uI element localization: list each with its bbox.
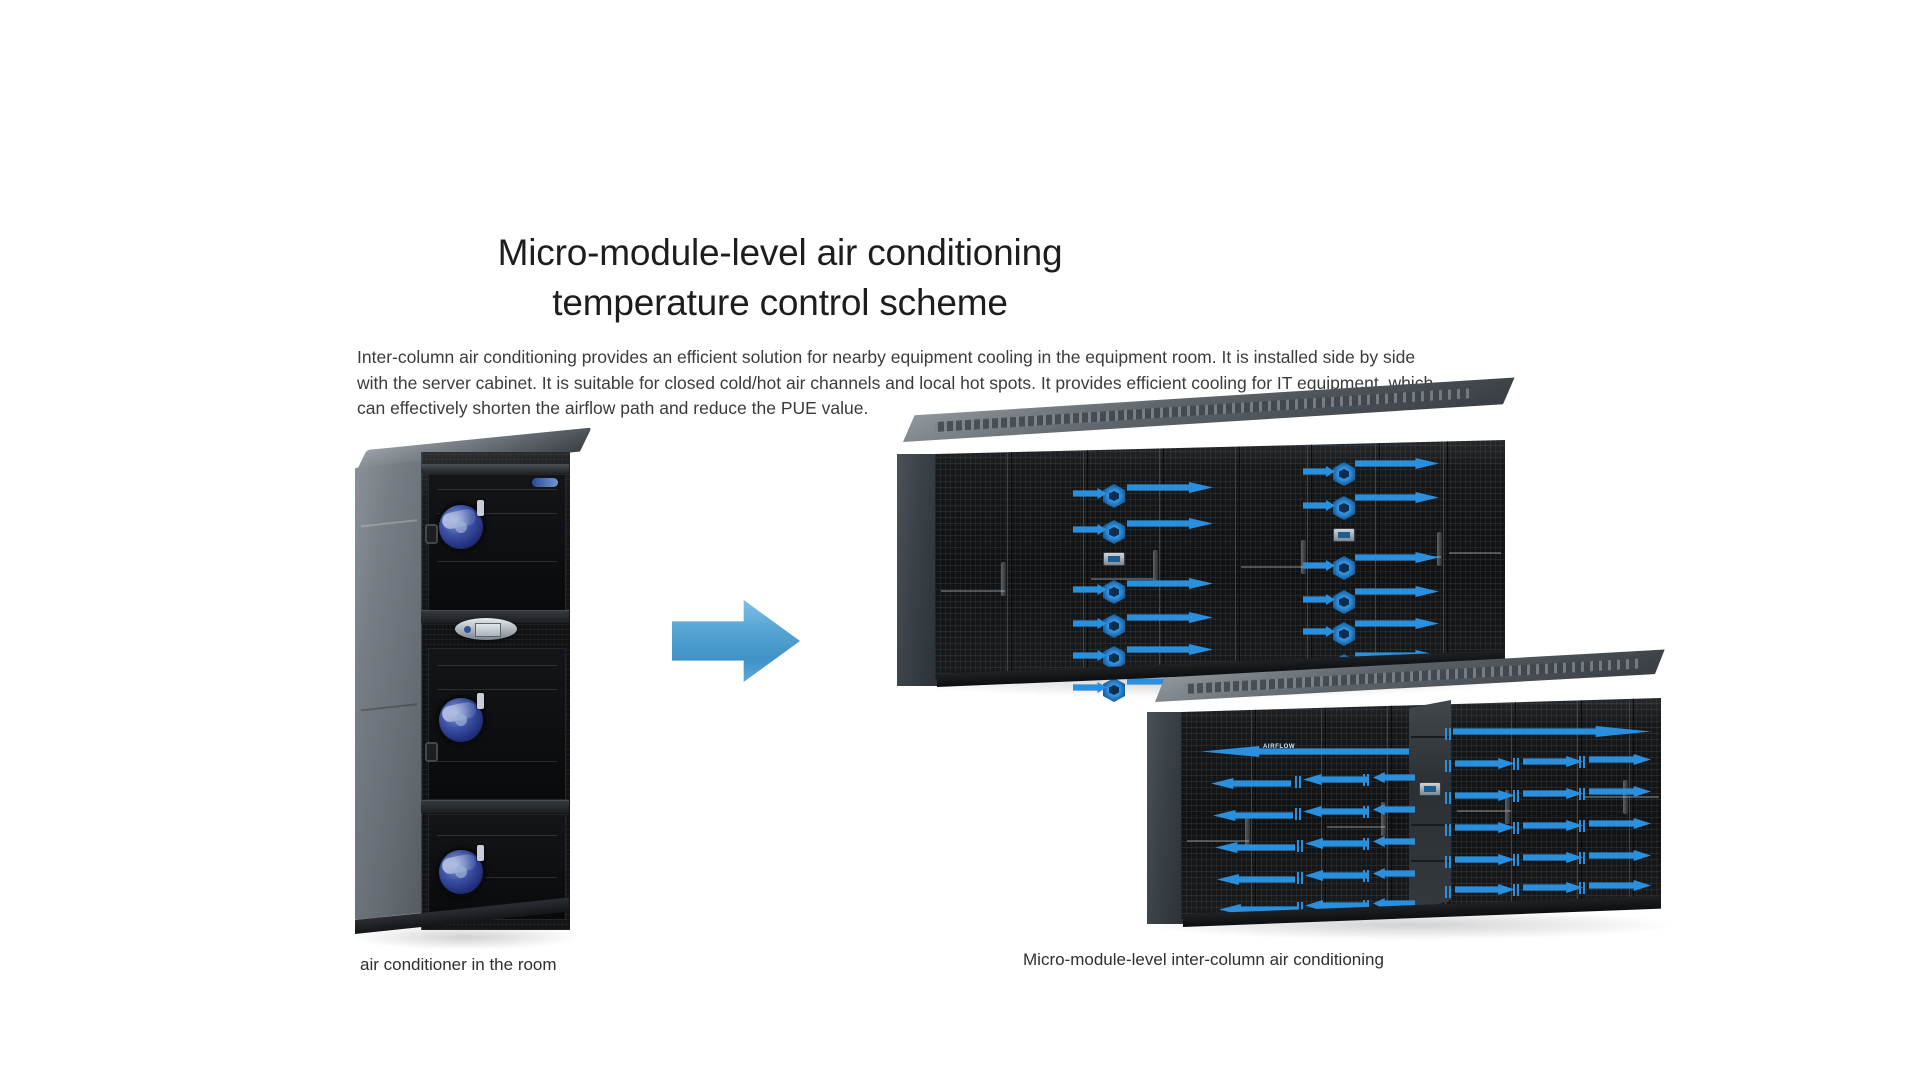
brand-logo	[532, 478, 558, 487]
vent-grille	[1513, 822, 1521, 834]
cabinet-side-panel	[355, 461, 423, 920]
fan-pipe-bottom	[477, 845, 484, 861]
rack-left-end-panel	[897, 454, 937, 686]
caption-left: air conditioner in the room	[360, 955, 557, 975]
page-title: Micro-module-level air conditioning temp…	[460, 228, 1100, 328]
vent-grille	[1297, 872, 1305, 884]
cabinet-divider	[1007, 440, 1012, 680]
rack-seam	[1327, 826, 1385, 828]
vent-grille	[1297, 840, 1305, 852]
door-handle-upper[interactable]	[425, 524, 438, 544]
cabinet-divider	[1307, 440, 1312, 680]
vent-grille	[1513, 790, 1521, 802]
rack-door-handle[interactable]	[1301, 540, 1306, 574]
transition-arrow	[672, 600, 800, 682]
control-display-panel[interactable]	[455, 618, 517, 640]
vent-grille	[1445, 728, 1453, 740]
vent-grille	[1445, 792, 1453, 804]
title-line-2: temperature control scheme	[460, 278, 1100, 328]
vent-grille	[1513, 854, 1521, 866]
rack-seam	[1449, 552, 1501, 554]
vent-grille	[1445, 856, 1453, 868]
rack-door-handle[interactable]	[1153, 550, 1158, 584]
rack-seam	[1187, 840, 1249, 842]
rack-seam	[1457, 810, 1511, 812]
vent-grille	[1363, 806, 1371, 818]
vent-grille	[1295, 808, 1303, 820]
rack-seam	[1585, 796, 1659, 798]
vent-grille	[1579, 820, 1587, 832]
vent-grille	[1363, 870, 1371, 882]
cabinet-rail-lower	[421, 800, 569, 813]
rack-left-end-panel	[1147, 712, 1183, 924]
rack-seam	[1091, 578, 1153, 580]
vent-grille	[1445, 886, 1453, 898]
vent-grille	[1445, 824, 1453, 836]
vent-grille	[1513, 758, 1521, 770]
cabinet-divider	[1159, 440, 1164, 680]
vent-grille	[1579, 882, 1587, 894]
cabinet-top-edge	[421, 464, 569, 473]
cabinet-divider	[1443, 440, 1448, 680]
vent-grille	[1579, 756, 1587, 768]
vent-grille	[1363, 838, 1371, 850]
rack-seam	[1241, 566, 1303, 568]
ac-control-panel[interactable]	[1103, 552, 1125, 566]
fan-pipe-top	[477, 500, 484, 516]
right-arrow-icon	[672, 600, 800, 682]
vent-grille	[1579, 788, 1587, 800]
vent-grille	[1579, 852, 1587, 864]
vent-grille	[1295, 776, 1303, 788]
cabinet-divider	[1083, 440, 1088, 680]
slide-canvas: Micro-module-level air conditioning temp…	[0, 0, 1920, 1080]
vent-grille	[1513, 884, 1521, 896]
vent-grille	[1445, 760, 1453, 772]
title-line-1: Micro-module-level air conditioning	[498, 232, 1063, 273]
ac-control-panel[interactable]	[1333, 528, 1355, 542]
figure-room-air-conditioner	[355, 450, 570, 940]
vent-grille	[1363, 774, 1371, 786]
door-handle-lower[interactable]	[425, 742, 438, 762]
rack-seam	[941, 590, 1005, 592]
figure-rack-row-airflow: AIRFLOW	[1145, 672, 1670, 942]
rack-door-handle[interactable]	[1437, 532, 1442, 566]
cabinet-divider	[1235, 440, 1240, 680]
ac-control-panel[interactable]	[1419, 782, 1441, 796]
caption-right: Micro-module-level inter-column air cond…	[1023, 950, 1384, 970]
figure-rack-row-perspective	[895, 412, 1515, 702]
fan-pipe-middle	[477, 693, 484, 709]
cabinet-divider	[1251, 698, 1256, 920]
